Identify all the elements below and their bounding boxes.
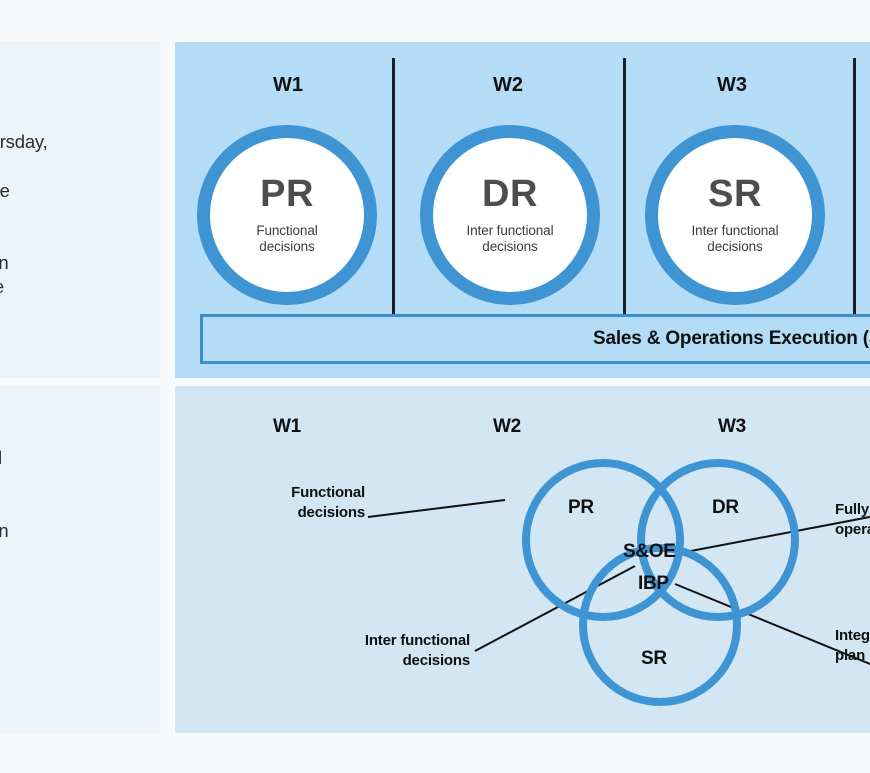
column-label-w2: W2: [493, 74, 523, 97]
stage-subtitle-sr-line1: Inter functional: [692, 223, 779, 238]
column-divider-3: [853, 58, 856, 318]
left-panel-today-ibp: Today IBP Process driven Cadence every T…: [0, 42, 160, 378]
leader-line-inter-functional-decisions: [475, 566, 635, 651]
callout-line2: decisions: [298, 504, 365, 521]
soe-execution-bar: Sales & Operations Execution (S&OE): [200, 314, 870, 364]
callout-line2: plan: [835, 647, 865, 664]
today-ibp-bullet-list: Process driven Cadence every Thursday, 1…: [0, 106, 48, 324]
callout-line1: Inter functional: [365, 632, 470, 649]
venn-callout-integrated-business-plan: Integrated business plan: [835, 626, 870, 666]
stage-subtitle-sr: Inter functional decisions: [692, 223, 779, 255]
callout-line1: Integrated business: [835, 627, 870, 644]
list-item: Process driven: [0, 106, 48, 130]
venn-circle-label-dr: DR: [712, 497, 739, 519]
future-ibp-venn-diagram: W1 W2 W3 PR DR SR S&OE IBP Functional de…: [175, 386, 870, 733]
stage-subtitle-pr-line1: Functional: [256, 223, 317, 238]
list-item: Fully digitized: [0, 543, 9, 567]
future-ibp-bullet-list: Meet when required Fresh insights Dynami…: [0, 446, 9, 615]
list-item: Large fixed audience: [0, 179, 48, 203]
callout-line2: operational plan: [835, 521, 870, 538]
stage-code-pr: PR: [260, 175, 314, 213]
venn-callout-functional-decisions: Functional decisions: [190, 483, 365, 523]
list-item: No S&OE: [0, 227, 48, 251]
stage-code-dr: DR: [482, 175, 538, 213]
venn-intersection-label-soe: S&OE: [623, 541, 676, 563]
list-item: Cadence every Thursday,: [0, 130, 48, 154]
callout-line1: Fully integrated: [835, 501, 870, 518]
list-item: 12pm-5pm IBP: [0, 154, 48, 178]
venn-graphics: [175, 386, 870, 733]
stage-subtitle-pr: Functional decisions: [256, 223, 317, 255]
list-item: Dynamic: [0, 494, 9, 518]
diagram-canvas: Today IBP Process driven Cadence every T…: [0, 0, 870, 773]
list-item: Process compliance: [0, 275, 48, 299]
venn-callout-fully-integrated: Fully integrated operational plan: [835, 500, 870, 540]
leader-line-functional-decisions: [368, 500, 505, 517]
stage-code-sr: SR: [708, 175, 762, 213]
venn-intersection-label-ibp: IBP: [638, 573, 669, 595]
stage-circle-pr: PR Functional decisions: [197, 125, 377, 305]
stage-subtitle-dr-line1: Inter functional: [467, 223, 554, 238]
stage-subtitle-dr: Inter functional decisions: [467, 223, 554, 255]
list-item: Deals with disruption: [0, 251, 48, 275]
column-divider-1: [392, 58, 395, 318]
venn-circle-label-sr: SR: [641, 648, 667, 670]
venn-circle-sr: [583, 548, 737, 702]
callout-line1: Functional: [291, 484, 365, 501]
list-item: Decision value: [0, 567, 9, 591]
left-panel-future-ibp: Future IBP Meet when required Fresh insi…: [0, 386, 160, 733]
list-item: Meet when required: [0, 446, 9, 470]
venn-callout-inter-functional-decisions: Inter functional decisions: [190, 631, 470, 671]
column-label-w1: W1: [273, 74, 303, 97]
stage-subtitle-pr-line2: decisions: [259, 239, 314, 254]
column-divider-2: [623, 58, 626, 318]
stage-subtitle-sr-line2: decisions: [707, 239, 762, 254]
list-item: Quality decision: [0, 591, 9, 615]
stage-circle-dr: DR Inter functional decisions: [420, 125, 600, 305]
list-item: Fresh insights: [0, 470, 9, 494]
list-item: Deals with disruption: [0, 519, 9, 543]
soe-execution-bar-label: Sales & Operations Execution (S&OE): [593, 328, 870, 350]
list-item: Top down: [0, 300, 48, 324]
venn-circle-label-pr: PR: [568, 497, 594, 519]
today-ibp-process-diagram: W1 W2 W3 PR Functional decisions DR Inte…: [175, 42, 870, 378]
callout-line2: decisions: [403, 652, 470, 669]
column-label-w3: W3: [717, 74, 747, 97]
stage-circle-sr: SR Inter functional decisions: [645, 125, 825, 305]
list-item: Uses old data: [0, 203, 48, 227]
stage-subtitle-dr-line2: decisions: [482, 239, 537, 254]
